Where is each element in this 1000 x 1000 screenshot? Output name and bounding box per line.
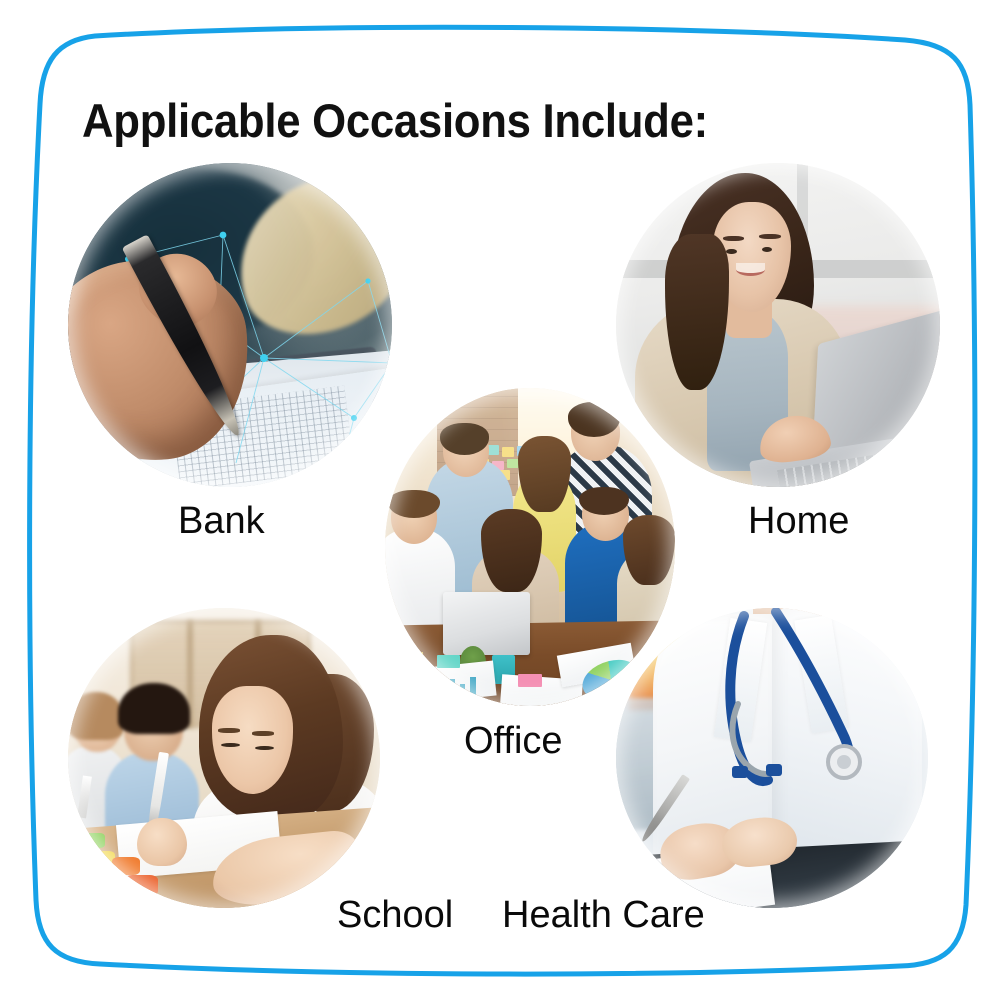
- occasion-image-bank: [68, 163, 392, 487]
- foam-letter: [112, 857, 140, 875]
- bar-chart-icon: [417, 674, 481, 696]
- occasion-label-school: School: [337, 894, 453, 937]
- occasion-label-health-care: Health Care: [502, 894, 705, 937]
- child-hair: [68, 692, 124, 740]
- sticky-note: [507, 459, 519, 469]
- occasion-label-office: Office: [464, 720, 563, 763]
- occasion-label-bank: Bank: [178, 500, 265, 543]
- child-hair: [118, 683, 190, 734]
- person-hair: [518, 436, 570, 512]
- laptop-icon: [443, 592, 530, 656]
- eyebrow-left: [218, 728, 240, 733]
- occasion-label-home: Home: [748, 500, 849, 543]
- eyebrow-right: [252, 731, 274, 736]
- product-infographic-panel: Applicable Occasions Include:: [0, 0, 1000, 1000]
- occasion-image-health-care: [616, 608, 928, 908]
- page-title: Applicable Occasions Include:: [82, 93, 708, 148]
- person-hair: [481, 509, 542, 592]
- sticky-note: [518, 674, 541, 687]
- sticky-note: [437, 655, 460, 668]
- girl-hand: [137, 818, 187, 866]
- eye-left: [726, 249, 736, 254]
- occasion-image-school: [68, 608, 380, 908]
- foam-letter: [124, 875, 158, 896]
- foam-letter: [84, 833, 106, 848]
- sticky-note: [502, 447, 514, 457]
- sticky-note: [400, 652, 423, 665]
- eyebrow-left: [723, 236, 744, 241]
